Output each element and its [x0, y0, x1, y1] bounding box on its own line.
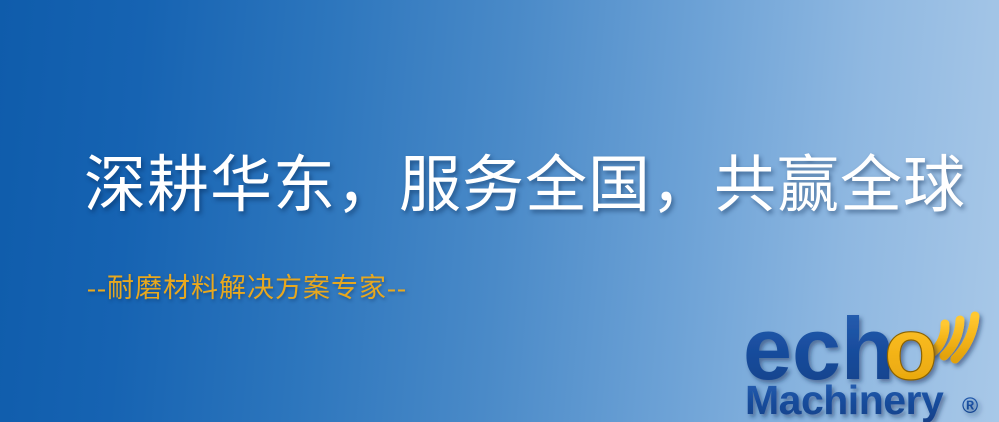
company-logo[interactable]: ech o Machinery ® [745, 296, 999, 422]
hero-banner: 深耕华东，服务全国，共赢全球 --耐磨材料解决方案专家-- [0, 0, 999, 422]
signal-arcs-icon [933, 316, 975, 359]
registered-trademark-icon: ® [962, 393, 978, 418]
page-title: 深耕华东，服务全国，共赢全球 [84, 152, 966, 221]
page-subtitle: --耐磨材料解决方案专家-- [87, 266, 407, 305]
logo-machinery-text: Machinery [745, 377, 944, 422]
